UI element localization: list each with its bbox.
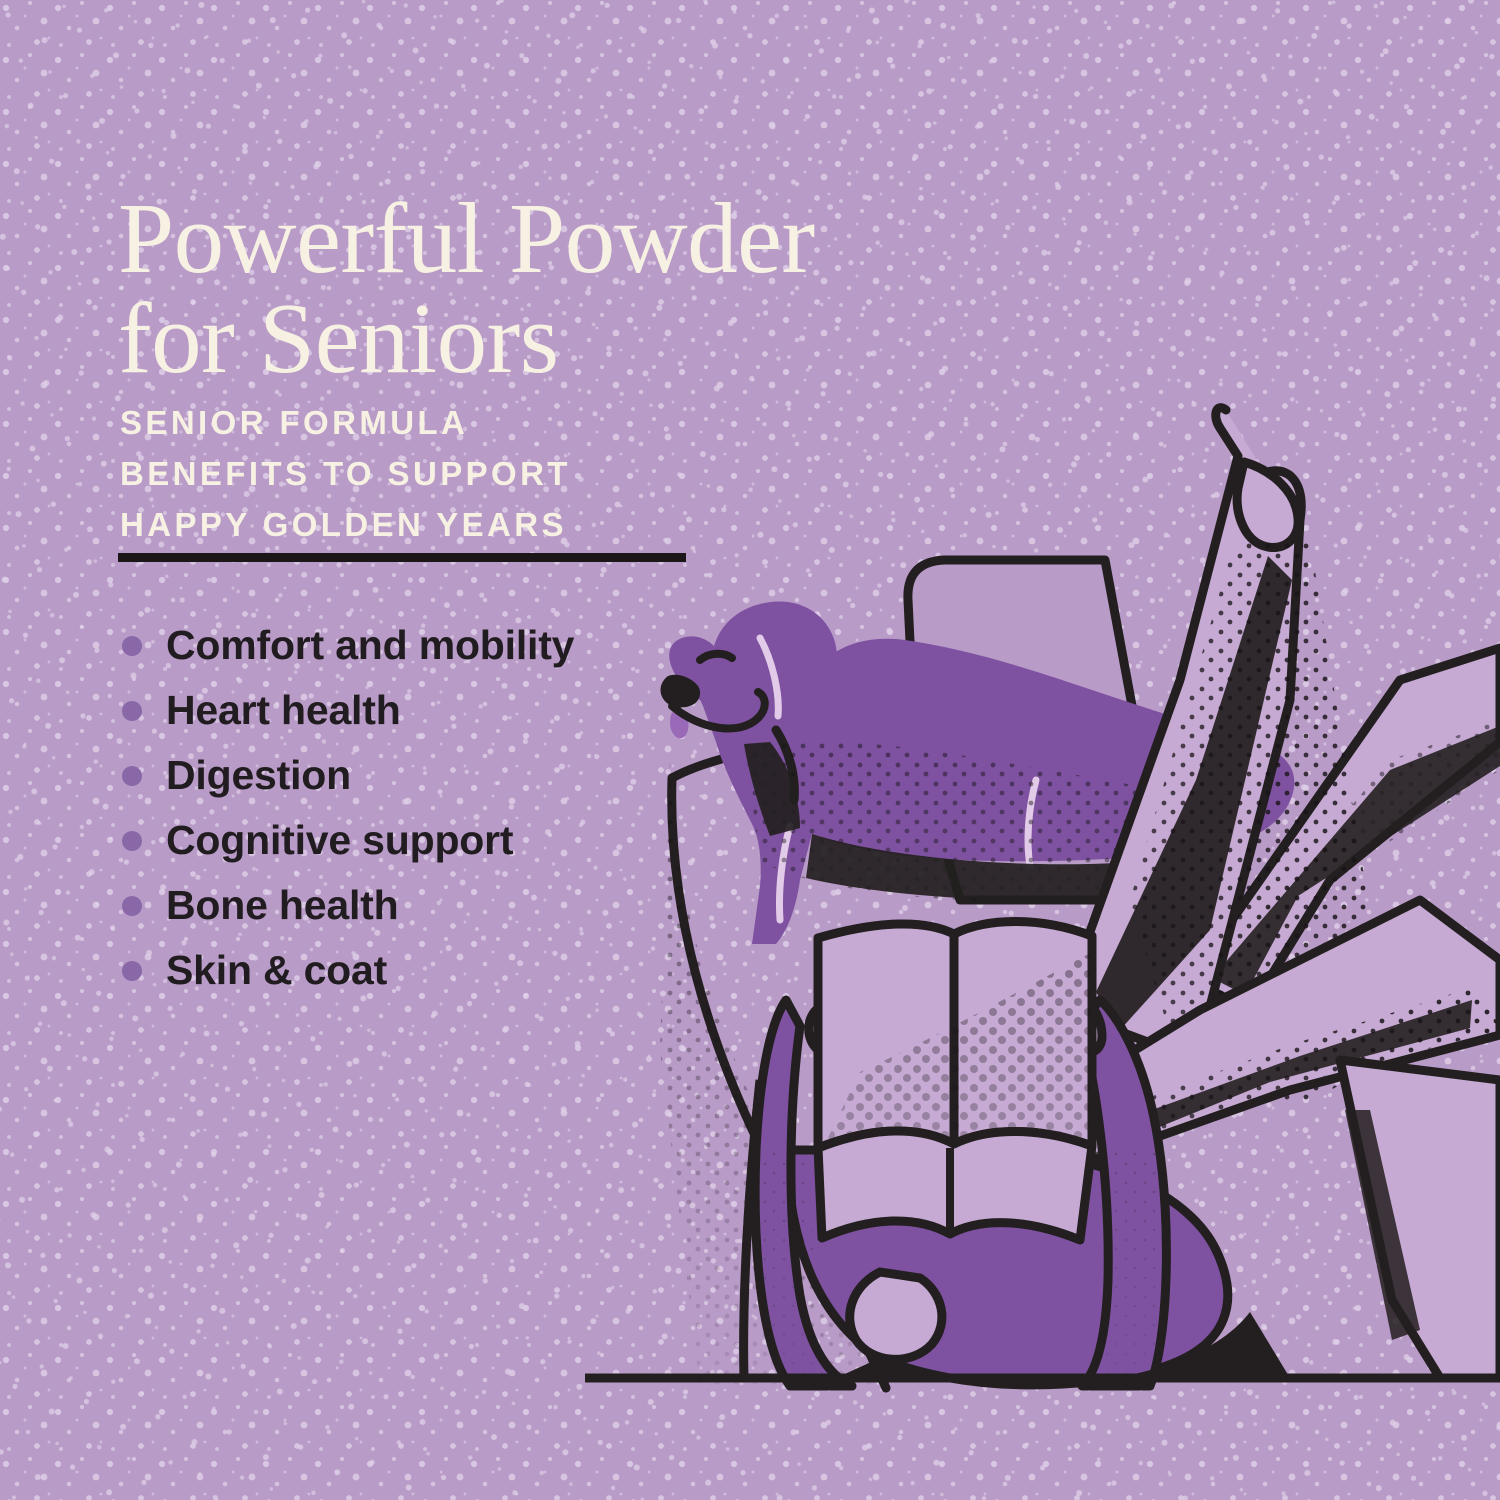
bullet-dot-icon	[122, 831, 142, 851]
list-item-label: Comfort and mobility	[166, 622, 574, 668]
list-item: Bone health	[118, 876, 758, 941]
open-book	[818, 922, 1092, 1241]
list-item: Comfort and mobility	[118, 616, 758, 681]
list-item-label: Cognitive support	[166, 817, 513, 863]
list-item-label: Digestion	[166, 752, 351, 798]
list-item: Heart health	[118, 681, 758, 746]
list-item: Cognitive support	[118, 811, 758, 876]
product-benefits-graphic: Powerful Powder for Seniors SENIOR FORMU…	[0, 0, 1500, 1500]
bullet-dot-icon	[122, 766, 142, 786]
subtitle: SENIOR FORMULA BENEFITS TO SUPPORT HAPPY…	[120, 397, 760, 550]
list-item: Digestion	[118, 746, 758, 811]
list-item: Skin & coat	[118, 941, 758, 1006]
list-item-label: Skin & coat	[166, 947, 387, 993]
benefits-list: Comfort and mobility Heart health Digest…	[118, 616, 758, 1006]
page-title: Powerful Powder for Seniors	[118, 188, 1118, 388]
list-item-label: Heart health	[166, 687, 401, 733]
bullet-dot-icon	[122, 961, 142, 981]
divider-rule	[118, 553, 686, 562]
list-item-label: Bone health	[166, 882, 398, 928]
bullet-dot-icon	[122, 636, 142, 656]
bullet-dot-icon	[122, 701, 142, 721]
bullet-dot-icon	[122, 896, 142, 916]
